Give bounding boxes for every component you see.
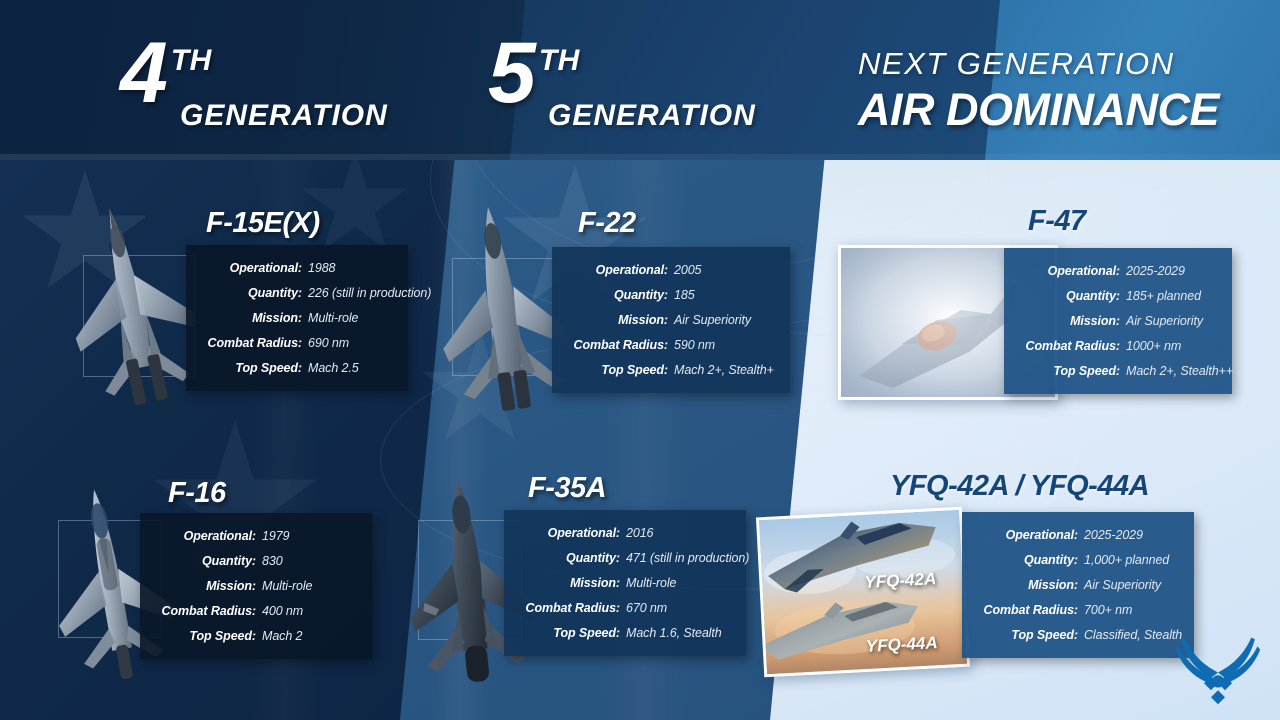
spec-row-mission: Mission: Multi-role (518, 576, 726, 590)
spec-value-combat-radius: 700+ nm (1084, 603, 1132, 617)
gen-ordinal-5: TH (539, 44, 580, 78)
spec-label-operational: Operational: (518, 526, 626, 540)
header-title-next-generation: NEXT GENERATION AIR DOMINANCE (858, 46, 1219, 136)
spec-row-combat-radius: Combat Radius: 690 nm (200, 336, 388, 350)
next-gen-subtitle: NEXT GENERATION (858, 46, 1219, 82)
aircraft-title-f47: F-47 (1028, 205, 1086, 238)
spec-label-mission: Mission: (154, 579, 262, 593)
spec-value-top-speed: Mach 2.5 (308, 361, 359, 375)
spec-label-top-speed: Top Speed: (566, 363, 674, 377)
spec-row-operational: Operational: 2005 (566, 263, 770, 277)
spec-row-operational: Operational: 2025-2029 (976, 528, 1174, 542)
spec-value-operational: 2016 (626, 526, 653, 540)
spec-label-combat-radius: Combat Radius: (200, 336, 308, 350)
aircraft-title-f15ex: F-15E(X) (206, 207, 320, 240)
aircraft-title-f16: F-16 (168, 477, 226, 510)
spec-label-top-speed: Top Speed: (200, 361, 308, 375)
spec-label-mission: Mission: (1018, 314, 1126, 328)
aircraft-title-f22: F-22 (578, 207, 636, 240)
spec-row-top-speed: Top Speed: Mach 1.6, Stealth (518, 626, 726, 640)
spec-label-combat-radius: Combat Radius: (518, 601, 626, 615)
spec-value-quantity: 471 (still in production) (626, 551, 749, 565)
spec-value-combat-radius: 1000+ nm (1126, 339, 1181, 353)
spec-label-quantity: Quantity: (518, 551, 626, 565)
spec-row-operational: Operational: 1979 (154, 529, 352, 543)
spec-value-operational: 1988 (308, 261, 335, 275)
gen-word-4: GENERATION (180, 99, 388, 133)
spec-value-mission: Air Superiority (1084, 578, 1161, 592)
spec-label-quantity: Quantity: (566, 288, 674, 302)
spec-value-top-speed: Mach 2+, Stealth+ (674, 363, 774, 377)
spec-label-top-speed: Top Speed: (154, 629, 262, 643)
spec-label-quantity: Quantity: (154, 554, 262, 568)
spec-label-top-speed: Top Speed: (976, 628, 1084, 642)
spec-label-quantity: Quantity: (1018, 289, 1126, 303)
spec-row-operational: Operational: 2016 (518, 526, 726, 540)
spec-label-top-speed: Top Speed: (518, 626, 626, 640)
aircraft-render-yfq (759, 510, 970, 678)
header-title-5th-generation: 5 TH GENERATION (488, 38, 756, 133)
spec-label-mission: Mission: (976, 578, 1084, 592)
spec-row-combat-radius: Combat Radius: 590 nm (566, 338, 770, 352)
spec-row-combat-radius: Combat Radius: 700+ nm (976, 603, 1174, 617)
spec-row-combat-radius: Combat Radius: 400 nm (154, 604, 352, 618)
spec-row-top-speed: Top Speed: Classified, Stealth (976, 628, 1174, 642)
spec-value-combat-radius: 400 nm (262, 604, 303, 618)
aircraft-title-yfq: YFQ-42A / YFQ-44A (890, 470, 1149, 503)
gen-number-5: 5 (488, 38, 533, 109)
spec-value-operational: 2025-2029 (1126, 264, 1185, 278)
spec-value-mission: Multi-role (262, 579, 312, 593)
spec-panel-f35a: Operational: 2016 Quantity: 471 (still i… (504, 510, 746, 656)
spec-row-combat-radius: Combat Radius: 1000+ nm (1018, 339, 1212, 353)
header-divider (0, 154, 1280, 160)
spec-value-quantity: 1,000+ planned (1084, 553, 1169, 567)
next-gen-title: AIR DOMINANCE (858, 84, 1219, 136)
spec-row-mission: Mission: Air Superiority (976, 578, 1174, 592)
spec-value-top-speed: Mach 2+, Stealth++ (1126, 364, 1233, 378)
spec-row-quantity: Quantity: 830 (154, 554, 352, 568)
spec-value-mission: Air Superiority (1126, 314, 1203, 328)
spec-label-mission: Mission: (566, 313, 674, 327)
gen-word-5: GENERATION (548, 99, 756, 133)
spec-panel-f22: Operational: 2005 Quantity: 185 Mission:… (552, 247, 790, 393)
spec-row-operational: Operational: 1988 (200, 261, 388, 275)
spec-value-mission: Air Superiority (674, 313, 751, 327)
spec-row-mission: Mission: Multi-role (154, 579, 352, 593)
spec-label-combat-radius: Combat Radius: (566, 338, 674, 352)
spec-row-quantity: Quantity: 185 (566, 288, 770, 302)
spec-value-top-speed: Mach 1.6, Stealth (626, 626, 722, 640)
aircraft-title-f35a: F-35A (528, 472, 606, 505)
spec-value-top-speed: Mach 2 (262, 629, 302, 643)
spec-row-quantity: Quantity: 185+ planned (1018, 289, 1212, 303)
aircraft-photo-yfq: YFQ-42A YFQ-44A (756, 507, 970, 678)
spec-value-quantity: 185 (674, 288, 695, 302)
spec-label-quantity: Quantity: (200, 286, 308, 300)
spec-row-quantity: Quantity: 1,000+ planned (976, 553, 1174, 567)
spec-panel-f16: Operational: 1979 Quantity: 830 Mission:… (140, 513, 372, 659)
spec-panel-f47: Operational: 2025-2029 Quantity: 185+ pl… (1004, 248, 1232, 394)
spec-row-mission: Mission: Multi-role (200, 311, 388, 325)
spec-label-top-speed: Top Speed: (1018, 364, 1126, 378)
spec-row-mission: Mission: Air Superiority (566, 313, 770, 327)
spec-label-operational: Operational: (976, 528, 1084, 542)
spec-label-operational: Operational: (1018, 264, 1126, 278)
spec-row-quantity: Quantity: 471 (still in production) (518, 551, 726, 565)
header-title-4th-generation: 4 TH GENERATION (120, 38, 388, 133)
spec-value-quantity: 226 (still in production) (308, 286, 431, 300)
photo-caption-yfq42a: YFQ-42A (864, 569, 937, 593)
spec-value-quantity: 830 (262, 554, 283, 568)
spec-value-quantity: 185+ planned (1126, 289, 1201, 303)
gen-ordinal-4: TH (171, 44, 212, 78)
spec-row-combat-radius: Combat Radius: 670 nm (518, 601, 726, 615)
spec-row-top-speed: Top Speed: Mach 2+, Stealth++ (1018, 364, 1212, 378)
spec-row-mission: Mission: Air Superiority (1018, 314, 1212, 328)
spec-label-mission: Mission: (518, 576, 626, 590)
gen-number-4: 4 (120, 38, 165, 109)
spec-value-combat-radius: 590 nm (674, 338, 715, 352)
spec-label-combat-radius: Combat Radius: (154, 604, 262, 618)
spec-value-operational: 2005 (674, 263, 701, 277)
spec-panel-yfq: Operational: 2025-2029 Quantity: 1,000+ … (962, 512, 1194, 658)
spec-panel-f15ex: Operational: 1988 Quantity: 226 (still i… (186, 245, 408, 391)
spec-row-quantity: Quantity: 226 (still in production) (200, 286, 388, 300)
spec-row-top-speed: Top Speed: Mach 2 (154, 629, 352, 643)
spec-label-operational: Operational: (154, 529, 262, 543)
spec-value-mission: Multi-role (308, 311, 358, 325)
spec-label-combat-radius: Combat Radius: (1018, 339, 1126, 353)
usaf-wings-logo (1174, 634, 1262, 706)
spec-value-mission: Multi-role (626, 576, 676, 590)
spec-value-top-speed: Classified, Stealth (1084, 628, 1182, 642)
spec-value-combat-radius: 690 nm (308, 336, 349, 350)
spec-label-operational: Operational: (566, 263, 674, 277)
spec-label-quantity: Quantity: (976, 553, 1084, 567)
spec-label-combat-radius: Combat Radius: (976, 603, 1084, 617)
spec-value-combat-radius: 670 nm (626, 601, 667, 615)
spec-label-operational: Operational: (200, 261, 308, 275)
spec-value-operational: 1979 (262, 529, 289, 543)
spec-row-top-speed: Top Speed: Mach 2.5 (200, 361, 388, 375)
spec-label-mission: Mission: (200, 311, 308, 325)
photo-caption-yfq44a: YFQ-44A (865, 633, 938, 657)
spec-value-operational: 2025-2029 (1084, 528, 1143, 542)
spec-row-top-speed: Top Speed: Mach 2+, Stealth+ (566, 363, 770, 377)
infographic-canvas: 4 TH GENERATION 5 TH GENERATION NEXT GEN… (0, 0, 1280, 720)
spec-row-operational: Operational: 2025-2029 (1018, 264, 1212, 278)
